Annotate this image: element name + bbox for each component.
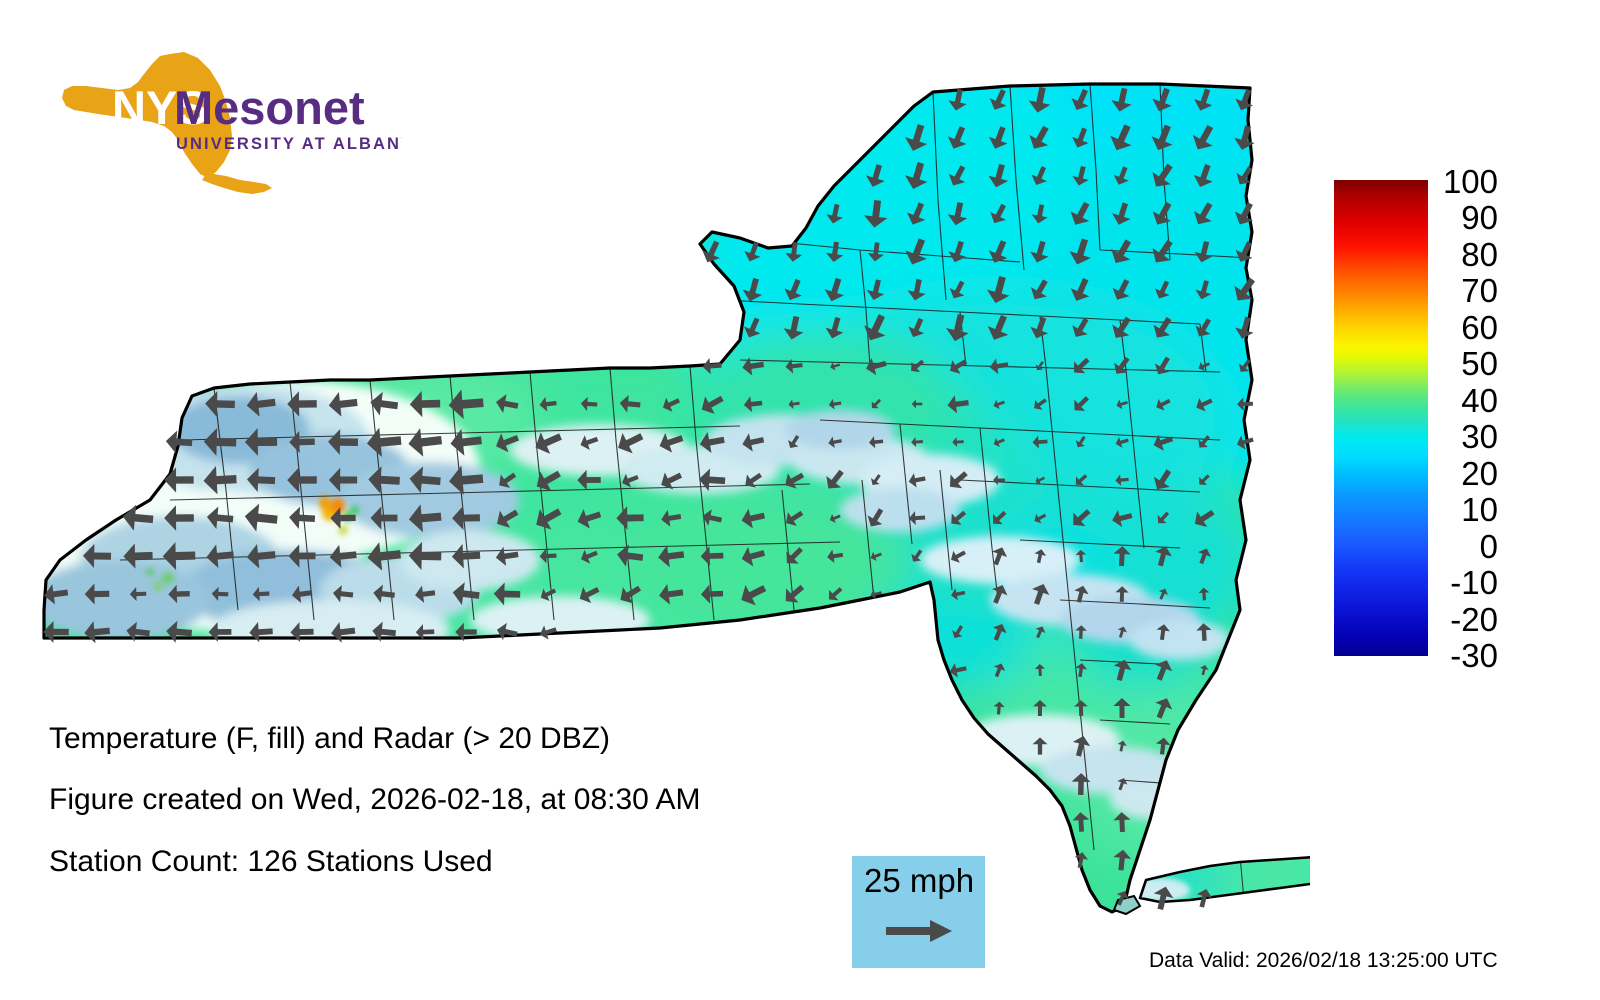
station-count-text: Station Count: 126 Stations Used xyxy=(49,845,493,879)
colorbar-tick-60: 60 xyxy=(1432,311,1498,344)
colorbar-gradient xyxy=(1334,180,1428,656)
colorbar-tick-70: 70 xyxy=(1432,274,1498,307)
figure-title: Temperature (F, fill) and Radar (> 20 DB… xyxy=(49,722,610,756)
colorbar-tick-0: 0 xyxy=(1432,530,1498,563)
colorbar-tick-30: 30 xyxy=(1432,420,1498,453)
right-arrow-icon xyxy=(886,918,954,949)
wind-scale-label: 25 mph xyxy=(864,862,974,900)
colorbar-tick-80: 80 xyxy=(1432,238,1498,271)
colorbar-tick-10: 10 xyxy=(1432,493,1498,526)
colorbar-tick-50: 50 xyxy=(1432,347,1498,380)
data-valid-timestamp: Data Valid: 2026/02/18 13:25:00 UTC xyxy=(1149,949,1498,973)
colorbar-tick-100: 100 xyxy=(1432,165,1498,198)
colorbar-tick-neg30: -30 xyxy=(1432,639,1498,672)
wind-scale-legend: 25 mph xyxy=(852,856,985,968)
figure-created-text: Figure created on Wed, 2026-02-18, at 08… xyxy=(49,783,701,817)
colorbar-tick-neg10: -10 xyxy=(1432,566,1498,599)
temperature-colorbar xyxy=(1334,180,1428,656)
colorbar-tick-90: 90 xyxy=(1432,201,1498,234)
colorbar-tick-20: 20 xyxy=(1432,457,1498,490)
colorbar-tick-labels: 100 90 80 70 60 50 40 30 20 10 0 -10 -20… xyxy=(1432,180,1552,680)
colorbar-tick-40: 40 xyxy=(1432,384,1498,417)
colorbar-tick-neg20: -20 xyxy=(1432,603,1498,636)
weather-map-figure: NYS Mesonet UNIVERSITY AT ALBANY xyxy=(0,0,1600,1000)
